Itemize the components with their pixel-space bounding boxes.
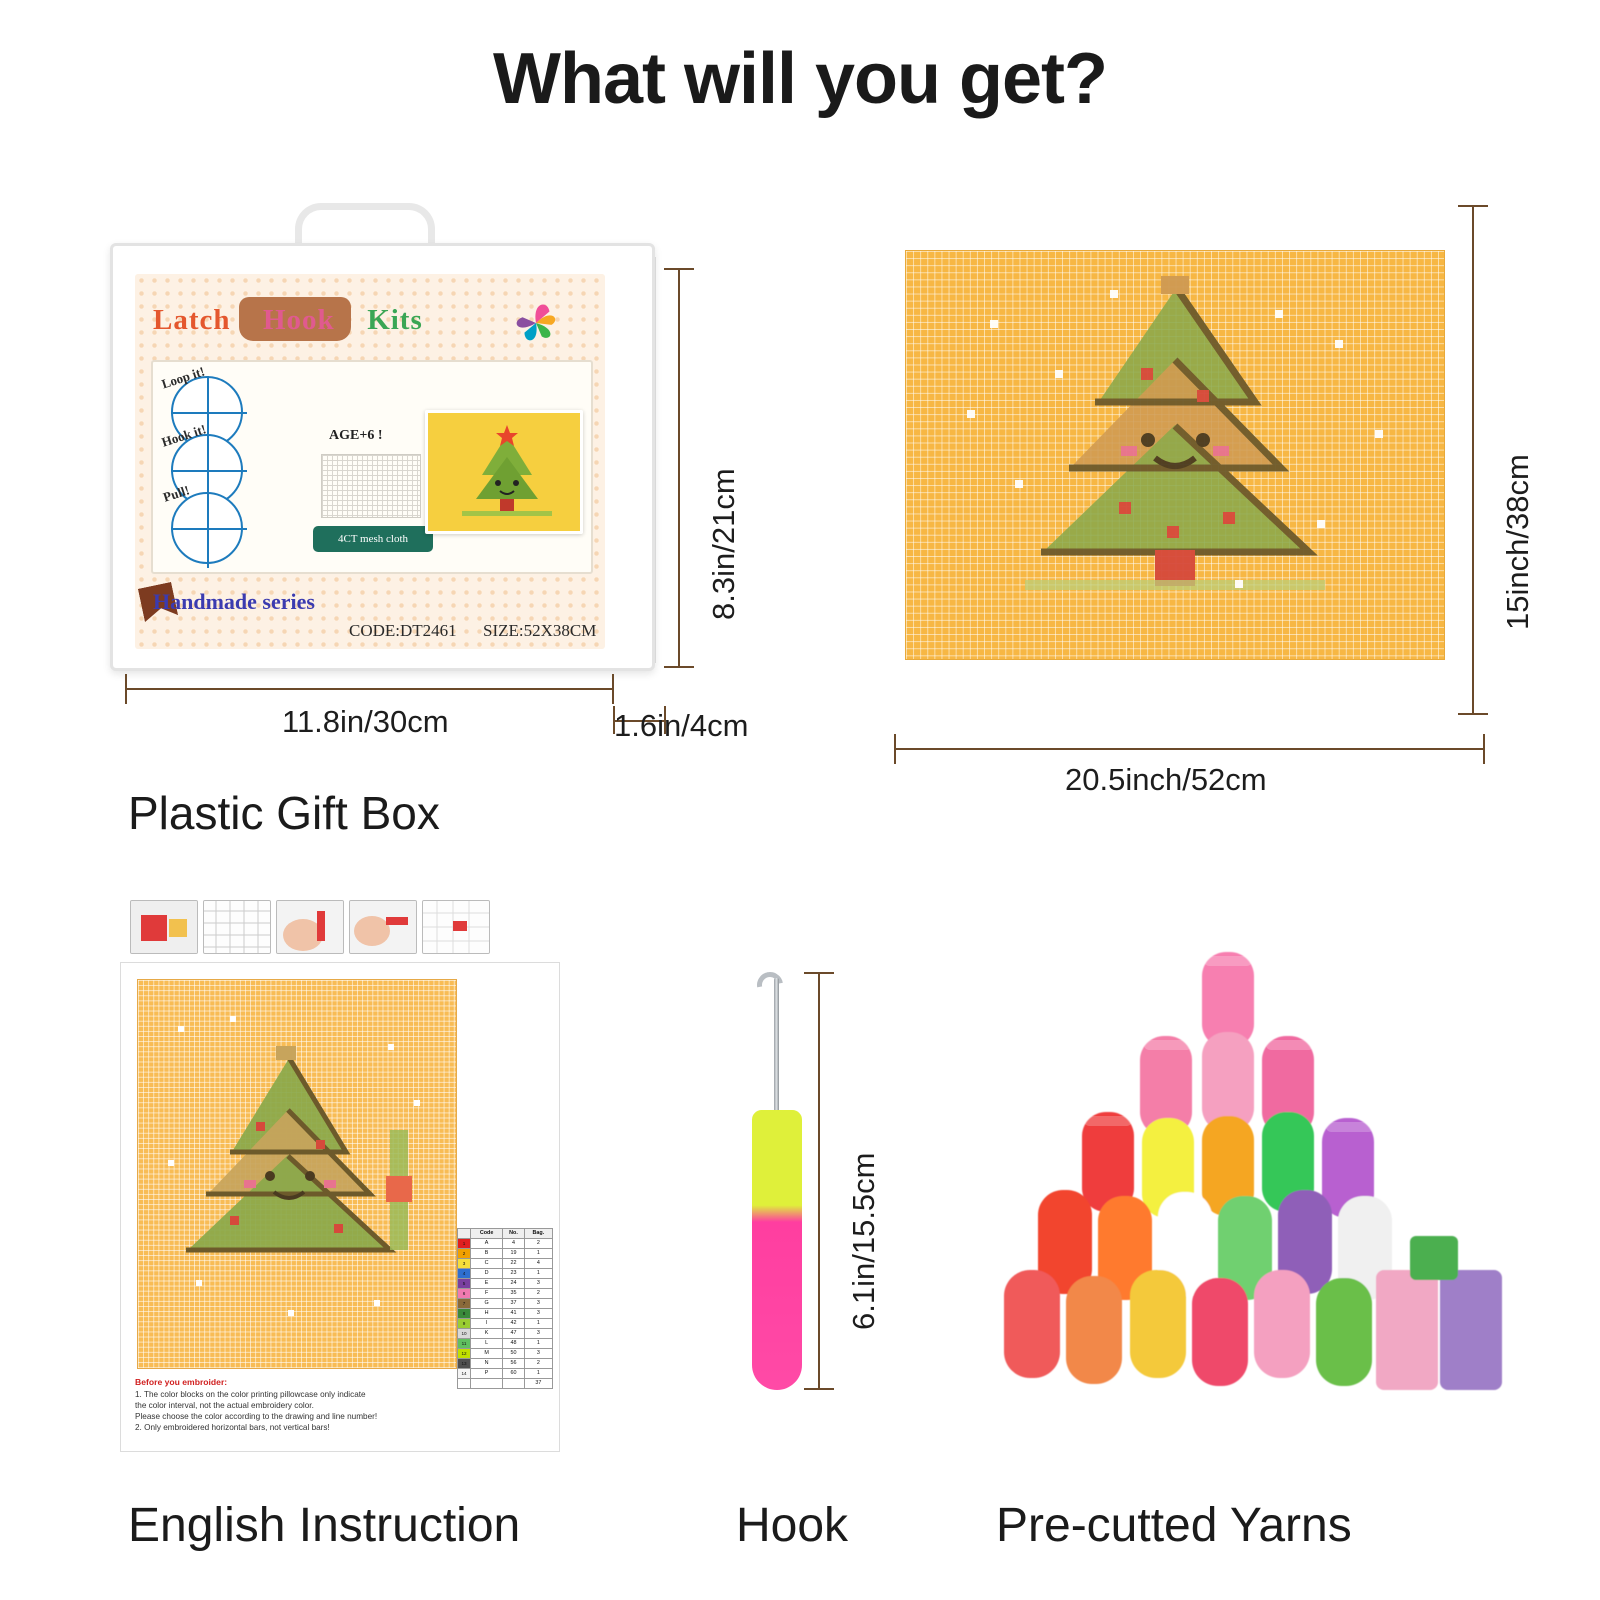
legend-cell-no: 42: [503, 1319, 525, 1329]
note-line-4: 2. Only embroidered horizontal bars, not…: [135, 1422, 435, 1433]
legend-cell-no: 35: [503, 1289, 525, 1299]
legend-cell-bag: 37: [524, 1379, 552, 1389]
legend-cell-bag: 3: [524, 1329, 552, 1339]
printed-canvas-image: [905, 250, 1445, 660]
legend-cell-no: [503, 1379, 525, 1389]
canvas-tree-artwork: [905, 250, 1445, 660]
legend-color-swatch: 12: [458, 1349, 471, 1359]
logo-word-2: Hook: [263, 304, 335, 337]
giftbox-height-cap-bottom: [664, 666, 694, 668]
legend-color-swatch: 4: [458, 1269, 471, 1279]
table-row: 10K473: [458, 1329, 553, 1339]
brand-logo-row: Latch Hook Kits: [153, 302, 593, 354]
mesh-cloth-sample: [321, 454, 421, 518]
legend-color-swatch: 9: [458, 1319, 471, 1329]
gift-box-image: Latch Hook Kits: [110, 195, 790, 715]
legend-color-swatch: 1: [458, 1239, 471, 1249]
legend-color-swatch: 5: [458, 1279, 471, 1289]
legend-cell-no: 22: [503, 1259, 525, 1269]
legend-cell-bag: 4: [524, 1259, 552, 1269]
legend-cell-no: 47: [503, 1329, 525, 1339]
list-item: [130, 900, 198, 954]
legend-header-swatch: [458, 1229, 471, 1239]
legend-cell-bag: 2: [524, 1239, 552, 1249]
legend-cell-bag: 2: [524, 1359, 552, 1369]
hook-tip-icon: [752, 967, 788, 1003]
legend-color-swatch: 10: [458, 1329, 471, 1339]
product-size-label: SIZE:52X38CM: [483, 621, 596, 641]
note-line-1: 1. The color blocks on the color printin…: [135, 1389, 435, 1400]
note-line-3: Please choose the color according to the…: [135, 1411, 435, 1422]
legend-cell-code: [471, 1379, 503, 1389]
table-row: 2B191: [458, 1249, 553, 1259]
list-item: [203, 900, 271, 954]
giftbox-width-cap-right: [612, 674, 614, 704]
giftbox-height-label: 8.3in/21cm: [706, 468, 742, 620]
canvas-height-cap-bottom: [1458, 713, 1488, 715]
canvas-width-cap-right: [1483, 734, 1485, 764]
legend-header-no: No.: [503, 1229, 525, 1239]
legend-cell-bag: 3: [524, 1349, 552, 1359]
legend-color-swatch: 3: [458, 1259, 471, 1269]
legend-cell-code: C: [471, 1259, 503, 1269]
hook-length-cap-bottom: [804, 1388, 834, 1390]
legend-header-bag: Bag.: [524, 1229, 552, 1239]
legend-cell-no: 41: [503, 1309, 525, 1319]
canvas-width-dim-line: [895, 748, 1485, 750]
box-front-face: Latch Hook Kits: [135, 274, 605, 649]
legend-cell-code: I: [471, 1319, 503, 1329]
hook-length-label: 6.1in/15.5cm: [846, 1153, 882, 1331]
legend-cell-code: G: [471, 1299, 503, 1309]
legend-cell-code: N: [471, 1359, 503, 1369]
giftbox-height-cap-top: [664, 268, 694, 270]
table-row: 12M503: [458, 1349, 553, 1359]
legend-cell-code: B: [471, 1249, 503, 1259]
legend-cell-bag: 3: [524, 1309, 552, 1319]
box-body: Latch Hook Kits: [110, 243, 655, 671]
table-row: 1A42: [458, 1239, 553, 1249]
table-row: 11L481: [458, 1339, 553, 1349]
legend-cell-code: P: [471, 1369, 503, 1379]
legend-cell-no: 48: [503, 1339, 525, 1349]
table-row: 5E243: [458, 1279, 553, 1289]
giftbox-width-label: 11.8in/30cm: [282, 704, 449, 740]
caption-hook: Hook: [736, 1498, 848, 1553]
legend-cell-no: 50: [503, 1349, 525, 1359]
color-legend-table: Code No. Bag. 1A422B1913C2244D2315E2436F…: [457, 1228, 553, 1389]
step-circle-3: [171, 492, 243, 564]
instruction-panel: Loop it! Hook it! Pull! AGE+6 ! 4CT mesh…: [151, 360, 593, 574]
giftbox-height-dim-line: [678, 268, 680, 668]
canvas-height-dim-line: [1472, 205, 1474, 715]
legend-cell-code: E: [471, 1279, 503, 1289]
table-row: 37: [458, 1379, 553, 1389]
canvas-width-label: 20.5inch/52cm: [1065, 762, 1267, 798]
note-line-2: the color interval, not the actual embro…: [135, 1400, 435, 1411]
table-row: 8H413: [458, 1309, 553, 1319]
table-row: 14P601: [458, 1369, 553, 1379]
legend-cell-code: H: [471, 1309, 503, 1319]
canvas-width-cap-left: [894, 734, 896, 764]
hook-handle: [752, 1110, 802, 1390]
instruction-sheet: Code No. Bag. 1A422B1913C2244D2315E2436F…: [120, 962, 560, 1452]
legend-cell-code: F: [471, 1289, 503, 1299]
legend-cell-bag: 3: [524, 1279, 552, 1289]
tree-preview-art: [428, 413, 583, 534]
precut-yarn-image: [990, 940, 1510, 1440]
legend-color-swatch: 14: [458, 1369, 471, 1379]
legend-cell-no: 56: [503, 1359, 525, 1369]
logo-word-1: Latch: [153, 304, 231, 337]
legend-color-swatch: [458, 1379, 471, 1389]
caption-english-instruction: English Instruction: [128, 1498, 520, 1553]
instruction-tree-artwork: [138, 980, 458, 1370]
legend-cell-bag: 1: [524, 1369, 552, 1379]
logo-word-3: Kits: [367, 304, 423, 337]
hook-length-cap-top: [804, 972, 834, 974]
hook-needle: [774, 978, 779, 1118]
table-row: 9I421: [458, 1319, 553, 1329]
legend-cell-bag: 1: [524, 1269, 552, 1279]
legend-cell-code: M: [471, 1349, 503, 1359]
legend-cell-no: 23: [503, 1269, 525, 1279]
legend-cell-bag: 2: [524, 1289, 552, 1299]
legend-color-swatch: 2: [458, 1249, 471, 1259]
caption-plastic-gift-box: Plastic Gift Box: [128, 786, 440, 840]
legend-cell-bag: 1: [524, 1339, 552, 1349]
caption-precut-yarns: Pre-cutted Yarns: [996, 1498, 1352, 1553]
legend-cell-code: D: [471, 1269, 503, 1279]
canvas-height-cap-top: [1458, 205, 1488, 207]
age-label: AGE+6 !: [329, 428, 382, 444]
legend-cell-no: 60: [503, 1369, 525, 1379]
table-row: 7G373: [458, 1299, 553, 1309]
product-preview-photo: [425, 410, 583, 534]
before-you-embroider-note: Before you embroider: 1. The color block…: [135, 1377, 435, 1433]
legend-header-code: Code: [471, 1229, 503, 1239]
giftbox-depth-label: 1.6in/4cm: [614, 708, 748, 744]
handmade-series-label: Handmade series: [153, 589, 315, 615]
legend-cell-code: A: [471, 1239, 503, 1249]
giftbox-width-cap-left: [125, 674, 127, 704]
legend-cell-no: 24: [503, 1279, 525, 1289]
legend-cell-bag: 1: [524, 1249, 552, 1259]
legend-color-swatch: 6: [458, 1289, 471, 1299]
instruction-chart-grid: [137, 979, 457, 1369]
giftbox-width-dim-line: [126, 688, 614, 690]
product-code-label: CODE:DT2461: [349, 621, 457, 641]
table-row: 6F352: [458, 1289, 553, 1299]
legend-cell-bag: 1: [524, 1319, 552, 1329]
legend-color-swatch: 7: [458, 1299, 471, 1309]
legend-cell-no: 37: [503, 1299, 525, 1309]
legend-color-swatch: 13: [458, 1359, 471, 1369]
legend-color-swatch: 8: [458, 1309, 471, 1319]
hook-tool-image: [700, 960, 930, 1440]
legend-cell-code: K: [471, 1329, 503, 1339]
list-item: [422, 900, 490, 954]
note-title: Before you embroider:: [135, 1377, 435, 1389]
yarn-pile-art: [990, 940, 1510, 1440]
list-item: [276, 900, 344, 954]
legend-color-swatch: 11: [458, 1339, 471, 1349]
page-title: What will you get?: [0, 38, 1600, 120]
canvas-height-label: 15inch/38cm: [1500, 454, 1536, 630]
mesh-cloth-tag: 4CT mesh cloth: [313, 526, 433, 552]
table-row: 4D231: [458, 1269, 553, 1279]
step-thumbnail-strip: [130, 900, 490, 954]
english-instruction-image: Code No. Bag. 1A422B1913C2244D2315E2436F…: [120, 900, 680, 1470]
table-row: 3C224: [458, 1259, 553, 1269]
product-infographic: What will you get? Latch Hook Kits: [0, 0, 1600, 1600]
list-item: [349, 900, 417, 954]
legend-cell-no: 4: [503, 1239, 525, 1249]
pinwheel-icon: [507, 298, 565, 348]
legend-cell-no: 19: [503, 1249, 525, 1259]
legend-cell-code: L: [471, 1339, 503, 1349]
hook-length-dim-line: [818, 972, 820, 1390]
legend-body: 1A422B1913C2244D2315E2436F3527G3738H4139…: [458, 1239, 553, 1389]
legend-cell-bag: 3: [524, 1299, 552, 1309]
table-header-row: Code No. Bag.: [458, 1229, 553, 1239]
logo-text: Latch Hook Kits: [153, 304, 423, 337]
table-row: 13N562: [458, 1359, 553, 1369]
